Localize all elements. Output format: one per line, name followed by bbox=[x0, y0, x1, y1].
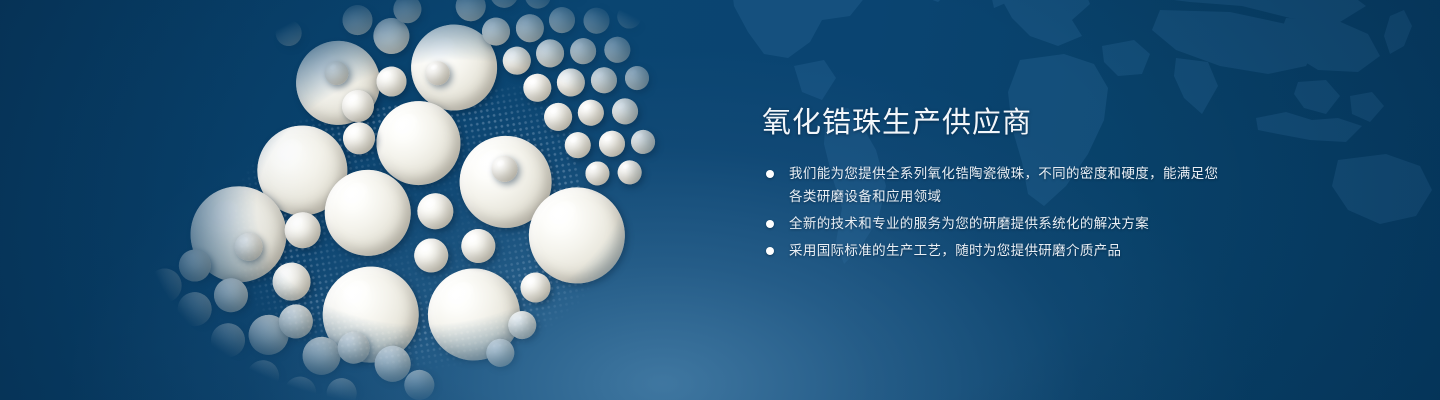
feature-list: 我们能为您提供全系列氧化锆陶瓷微珠，不同的密度和硬度，能满足您各类研磨设备和应用… bbox=[762, 162, 1232, 262]
bullet-dot-icon bbox=[766, 220, 774, 228]
hero-banner: 氧化锆珠生产供应商 我们能为您提供全系列氧化锆陶瓷微珠，不同的密度和硬度，能满足… bbox=[0, 0, 1440, 400]
bullet-dot-icon bbox=[766, 170, 774, 178]
banner-content: 氧化锆珠生产供应商 我们能为您提供全系列氧化锆陶瓷微珠，不同的密度和硬度，能满足… bbox=[762, 104, 1232, 266]
list-item-text: 我们能为您提供全系列氧化锆陶瓷微珠，不同的密度和硬度，能满足您各类研磨设备和应用… bbox=[789, 166, 1218, 204]
list-item: 采用国际标准的生产工艺，随时为您提供研磨介质产品 bbox=[762, 239, 1232, 262]
banner-headline: 氧化锆珠生产供应商 bbox=[762, 104, 1232, 142]
list-item: 全新的技术和专业的服务为您的研磨提供系统化的解决方案 bbox=[762, 212, 1232, 235]
list-item: 我们能为您提供全系列氧化锆陶瓷微珠，不同的密度和硬度，能满足您各类研磨设备和应用… bbox=[762, 162, 1232, 208]
list-item-text: 采用国际标准的生产工艺，随时为您提供研磨介质产品 bbox=[789, 243, 1121, 258]
bullet-dot-icon bbox=[766, 247, 774, 255]
list-item-text: 全新的技术和专业的服务为您的研磨提供系统化的解决方案 bbox=[789, 216, 1149, 231]
